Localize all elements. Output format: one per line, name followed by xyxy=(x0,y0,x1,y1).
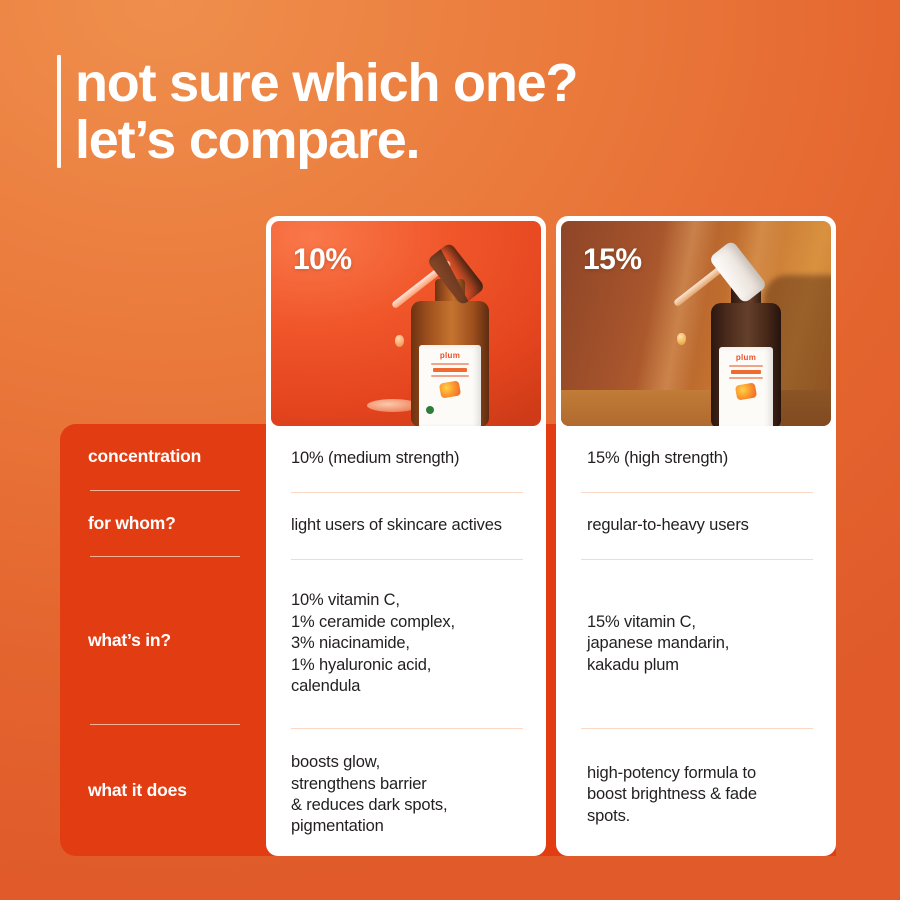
title-line-1: not sure which one? xyxy=(75,55,577,112)
label-column: concentration for whom? what’s in? what … xyxy=(60,424,266,856)
row-label-what-it-does: what it does xyxy=(88,725,242,856)
serum-drop-icon xyxy=(677,333,686,345)
cell-for-whom-10: light users of skincare actives xyxy=(291,493,523,559)
brand-mark: plum xyxy=(736,354,756,362)
label-line-icon xyxy=(431,363,469,365)
fruit-icon xyxy=(439,380,461,398)
title-text: not sure which one? let’s compare. xyxy=(61,55,577,168)
comparison-infographic: not sure which one? let’s compare. conce… xyxy=(0,0,900,900)
product-photo-15: 15% plum xyxy=(561,221,831,426)
cell-concentration-15: 15% (high strength) xyxy=(581,426,813,492)
row-label-for-whom: for whom? xyxy=(88,491,242,557)
dropper-15-icon xyxy=(671,237,795,355)
product-card-15[interactable]: 15% plum xyxy=(556,216,836,856)
label-line-icon xyxy=(729,365,762,367)
cell-for-whom-15: regular-to-heavy users xyxy=(581,493,813,559)
dropper-10-icon xyxy=(389,239,507,351)
concentration-badge-10: 10% xyxy=(293,243,352,277)
product-card-10[interactable]: 10% plum xyxy=(266,216,546,856)
title-line-2: let’s compare. xyxy=(75,112,577,169)
product-photo-10: 10% plum xyxy=(271,221,541,426)
title-accent-bar xyxy=(57,55,61,168)
label-divider-1 xyxy=(90,490,240,491)
label-line-icon xyxy=(729,377,762,379)
row-label-concentration: concentration xyxy=(88,424,242,490)
fruit-icon xyxy=(735,382,757,400)
serum-drop-icon xyxy=(395,335,404,347)
page-title: not sure which one? let’s compare. xyxy=(57,55,577,168)
label-chip-icon xyxy=(731,370,761,375)
label-chip-icon xyxy=(433,368,468,373)
label-divider-3 xyxy=(90,724,240,725)
cell-whats-in-10: 10% vitamin C, 1% ceramide complex, 3% n… xyxy=(291,560,523,728)
cell-concentration-10: 10% (medium strength) xyxy=(291,426,523,492)
cell-what-it-does-15: high-potency formula to boost brightness… xyxy=(581,729,813,856)
row-label-whats-in: what’s in? xyxy=(88,557,242,724)
bottle-label: plum xyxy=(719,347,773,426)
concentration-badge-15: 15% xyxy=(583,243,642,277)
spec-rows-10: 10% (medium strength) light users of ski… xyxy=(271,426,541,856)
product-cards: 10% plum xyxy=(266,216,836,856)
bottle-label: plum xyxy=(419,345,481,426)
cell-whats-in-15: 15% vitamin C, japanese mandarin, kakadu… xyxy=(581,560,813,728)
spec-rows-15: 15% (high strength) regular-to-heavy use… xyxy=(561,426,831,856)
cell-what-it-does-10: boosts glow, strengthens barrier & reduc… xyxy=(291,729,523,856)
brand-mark: plum xyxy=(440,352,460,360)
label-line-icon xyxy=(431,375,469,377)
eco-badge-icon xyxy=(426,406,434,414)
label-divider-2 xyxy=(90,556,240,557)
